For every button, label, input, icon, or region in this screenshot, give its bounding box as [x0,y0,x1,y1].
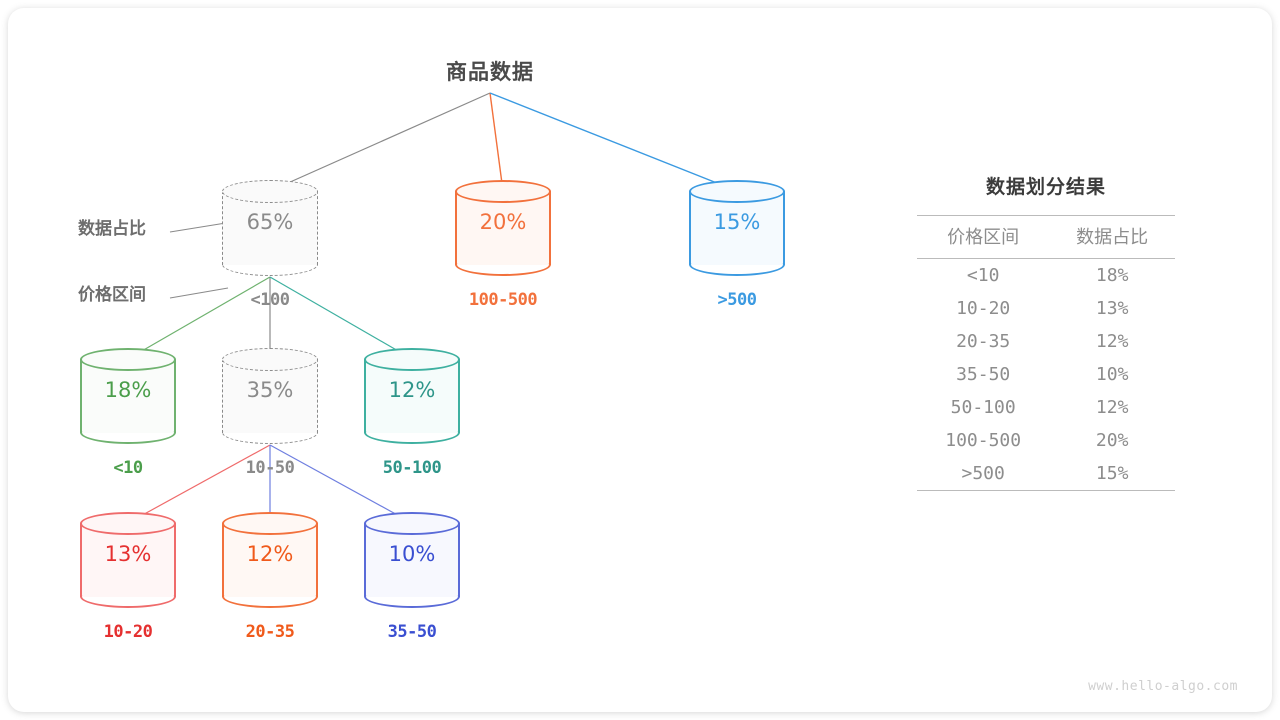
cell-price-range: <10 [917,259,1049,293]
cell-data-share: 13% [1049,292,1175,325]
table-row: 100-50020% [917,424,1175,457]
table-row: 35-5010% [917,358,1175,391]
cell-data-share: 15% [1049,457,1175,491]
cylinder-percent-label: 15% [689,210,785,234]
cylinder-top-ellipse [80,512,176,535]
table-row: >50015% [917,457,1175,491]
cylinder-top-ellipse [689,180,785,203]
diagram-canvas: 商品数据 65%<10020%100-50015%>50018%<1035%10… [0,0,1280,720]
table-row: <1018% [917,259,1175,293]
range-label-r20-35: 20-35 [190,622,350,642]
cylinder-node-hi-gt500: 15% [689,180,785,276]
range-label-r35-50: 35-50 [332,622,492,642]
result-table-title: 数据划分结果 [917,172,1175,199]
result-table: 价格区间 数据占比 <1018%10-2013%20-3512%35-5010%… [917,215,1175,491]
table-header-data-share: 数据占比 [1049,216,1175,259]
table-header-row: 价格区间 数据占比 [917,216,1175,259]
range-label-lt10: <10 [48,458,208,478]
cylinder-node-r10-50: 35% [222,348,318,444]
range-label-root-lt100: <100 [190,290,350,310]
result-table-panel: 数据划分结果 价格区间 数据占比 <1018%10-2013%20-3512%3… [917,172,1175,491]
table-body: <1018%10-2013%20-3512%35-5010%50-10012%1… [917,259,1175,491]
cell-data-share: 18% [1049,259,1175,293]
table-row: 10-2013% [917,292,1175,325]
watermark: www.hello-algo.com [1088,679,1238,694]
cylinder-percent-label: 13% [80,542,176,566]
cylinder-percent-label: 65% [222,210,318,234]
range-label-r10-20: 10-20 [48,622,208,642]
cylinder-node-r10-20: 13% [80,512,176,608]
cylinder-node-r20-35: 12% [222,512,318,608]
cylinder-top-ellipse [455,180,551,203]
range-label-mid-100-500: 100-500 [423,290,583,310]
cell-price-range: 35-50 [917,358,1049,391]
range-label-hi-gt500: >500 [657,290,817,310]
cylinder-percent-label: 12% [222,542,318,566]
cell-data-share: 12% [1049,325,1175,358]
cylinder-percent-label: 20% [455,210,551,234]
cylinder-node-r35-50: 10% [364,512,460,608]
cylinder-top-ellipse [222,512,318,535]
cell-price-range: 10-20 [917,292,1049,325]
table-row: 20-3512% [917,325,1175,358]
cylinder-percent-label: 12% [364,378,460,402]
annotation-data-share: 数据占比 [78,214,146,239]
cylinder-top-ellipse [222,348,318,371]
cylinder-percent-label: 10% [364,542,460,566]
cylinder-percent-label: 18% [80,378,176,402]
cylinder-node-r50-100: 12% [364,348,460,444]
cylinder-top-ellipse [80,348,176,371]
cylinder-top-ellipse [364,348,460,371]
cell-price-range: 100-500 [917,424,1049,457]
cell-price-range: 20-35 [917,325,1049,358]
range-label-r10-50: 10-50 [190,458,350,478]
table-header-price-range: 价格区间 [917,216,1049,259]
cell-data-share: 12% [1049,391,1175,424]
cell-data-share: 10% [1049,358,1175,391]
cylinder-percent-label: 35% [222,378,318,402]
cylinder-node-mid-100-500: 20% [455,180,551,276]
cell-data-share: 20% [1049,424,1175,457]
range-label-r50-100: 50-100 [332,458,492,478]
cell-price-range: >500 [917,457,1049,491]
cell-price-range: 50-100 [917,391,1049,424]
table-row: 50-10012% [917,391,1175,424]
cylinder-top-ellipse [364,512,460,535]
cylinder-node-root-lt100: 65% [222,180,318,276]
cylinder-top-ellipse [222,180,318,203]
annotation-price-range: 价格区间 [78,280,146,305]
cylinder-node-lt10: 18% [80,348,176,444]
diagram-title: 商品数据 [0,56,980,86]
